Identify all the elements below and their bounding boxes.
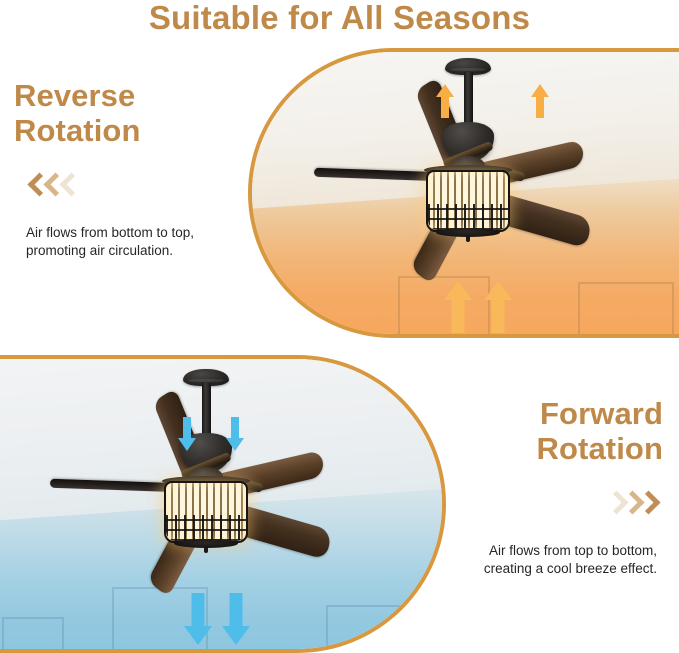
ceiling-fan-warm bbox=[388, 56, 548, 286]
light-kit-finial bbox=[466, 235, 470, 242]
ceiling-fan-photo-warm bbox=[248, 48, 679, 338]
arrow-head bbox=[222, 626, 250, 645]
crystal-light-kit bbox=[164, 481, 248, 543]
airflow-arrow-down-1 bbox=[178, 417, 196, 451]
oval-photo-frame-bottom bbox=[0, 355, 446, 653]
arrow-shaft bbox=[441, 96, 449, 118]
chevron-left-icon-1 bbox=[30, 174, 44, 196]
light-kit-cage bbox=[166, 515, 247, 541]
arrow-shaft bbox=[192, 593, 205, 628]
forward-chevron-group bbox=[431, 490, 653, 516]
arrow-shaft bbox=[183, 417, 191, 439]
forward-rotation-text-block: Forward Rotation Air flows from top to b… bbox=[431, 396, 663, 577]
forward-rotation-description: Air flows from top to bottom, creating a… bbox=[431, 542, 657, 577]
chevron-right-icon-3 bbox=[639, 492, 653, 514]
forward-rotation-photo-panel bbox=[0, 355, 446, 653]
infographic-page: Suitable for All Seasons bbox=[0, 0, 679, 653]
page-title: Suitable for All Seasons bbox=[0, 0, 679, 38]
airflow-arrow-up-4 bbox=[484, 281, 512, 333]
arrow-head bbox=[184, 626, 212, 645]
airflow-arrow-up-2 bbox=[531, 84, 549, 118]
arrow-shaft bbox=[452, 298, 465, 333]
arrow-head bbox=[226, 438, 244, 451]
arrow-shaft bbox=[536, 96, 544, 118]
chevron-right-icon-2 bbox=[623, 492, 637, 514]
reverse-rotation-description: Air flows from bottom to top, promoting … bbox=[26, 224, 242, 259]
light-kit-finial bbox=[204, 546, 208, 553]
ceiling-fan-photo-cool bbox=[0, 355, 446, 653]
arrow-head bbox=[178, 438, 196, 451]
reverse-rotation-photo-panel bbox=[248, 48, 679, 338]
oval-photo-frame-top bbox=[248, 48, 679, 338]
chevron-left-icon-2 bbox=[46, 174, 60, 196]
door-frame-right bbox=[326, 605, 406, 653]
airflow-arrow-down-4 bbox=[222, 593, 250, 645]
ceiling-fan-cool bbox=[126, 365, 286, 601]
airflow-arrow-up-3 bbox=[444, 281, 472, 333]
door-frame-right bbox=[578, 282, 674, 338]
chevron-left-icon-3 bbox=[62, 174, 76, 196]
wall-trim-left bbox=[248, 304, 298, 338]
room-scene-warm bbox=[248, 48, 679, 338]
light-kit-cage bbox=[428, 204, 509, 230]
airflow-arrow-down-2 bbox=[226, 417, 244, 451]
wall-trim-left bbox=[2, 617, 64, 653]
crystal-light-kit bbox=[426, 170, 510, 232]
reverse-rotation-title: Reverse Rotation bbox=[14, 78, 242, 148]
airflow-arrow-down-3 bbox=[184, 593, 212, 645]
reverse-rotation-text-block: Reverse Rotation Air flows from bottom t… bbox=[14, 78, 242, 259]
arrow-shaft bbox=[492, 298, 505, 333]
arrow-shaft bbox=[230, 593, 243, 628]
chevron-right-icon-1 bbox=[607, 492, 621, 514]
forward-rotation-title: Forward Rotation bbox=[431, 396, 663, 466]
reverse-chevron-group bbox=[30, 172, 242, 198]
airflow-arrow-up-1 bbox=[436, 84, 454, 118]
arrow-shaft bbox=[231, 417, 239, 439]
room-scene-cool bbox=[0, 355, 446, 653]
